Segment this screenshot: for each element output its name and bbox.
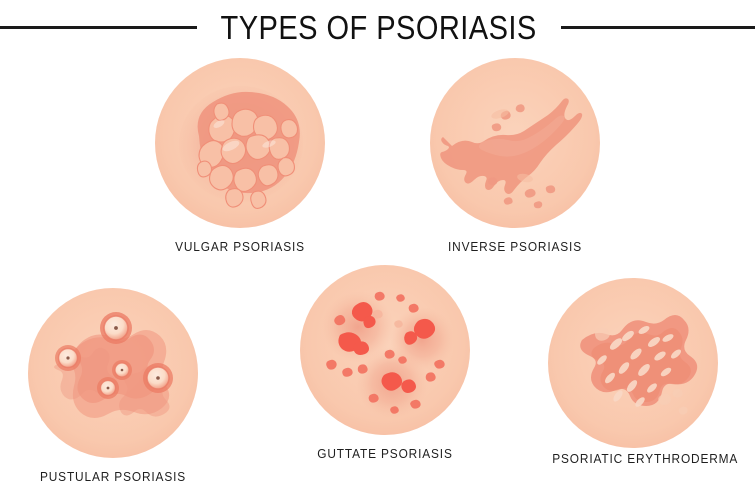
item-vulgar: VULGAR PSORIASIS xyxy=(155,58,325,258)
page-header: TYPES OF PSORIASIS xyxy=(0,6,755,48)
vulgar-psoriasis-illustration xyxy=(155,58,325,228)
pustular-psoriasis-illustration xyxy=(28,288,198,458)
title-rule-right xyxy=(561,26,755,29)
item-inverse: INVERSE PSORIASIS xyxy=(430,58,600,258)
inverse-psoriasis-illustration xyxy=(430,58,600,228)
psoriatic-erythroderma-illustration xyxy=(548,278,718,448)
item-pustular: PUSTULAR PSORIASIS xyxy=(28,288,198,468)
caption-guttate: GUTTATE PSORIASIS xyxy=(304,447,466,461)
caption-erythroderma: PSORIATIC ERYTHRODERMA xyxy=(552,452,714,466)
caption-vulgar: VULGAR PSORIASIS xyxy=(159,240,321,254)
caption-inverse: INVERSE PSORIASIS xyxy=(434,240,596,254)
item-guttate: GUTTATE PSORIASIS xyxy=(300,265,470,445)
page-title: TYPES OF PSORIASIS xyxy=(219,11,539,44)
title-rule-left xyxy=(0,26,197,29)
item-erythroderma: PSORIATIC ERYTHRODERMA xyxy=(548,278,718,458)
guttate-psoriasis-illustration xyxy=(300,265,470,435)
caption-pustular: PUSTULAR PSORIASIS xyxy=(32,470,194,484)
